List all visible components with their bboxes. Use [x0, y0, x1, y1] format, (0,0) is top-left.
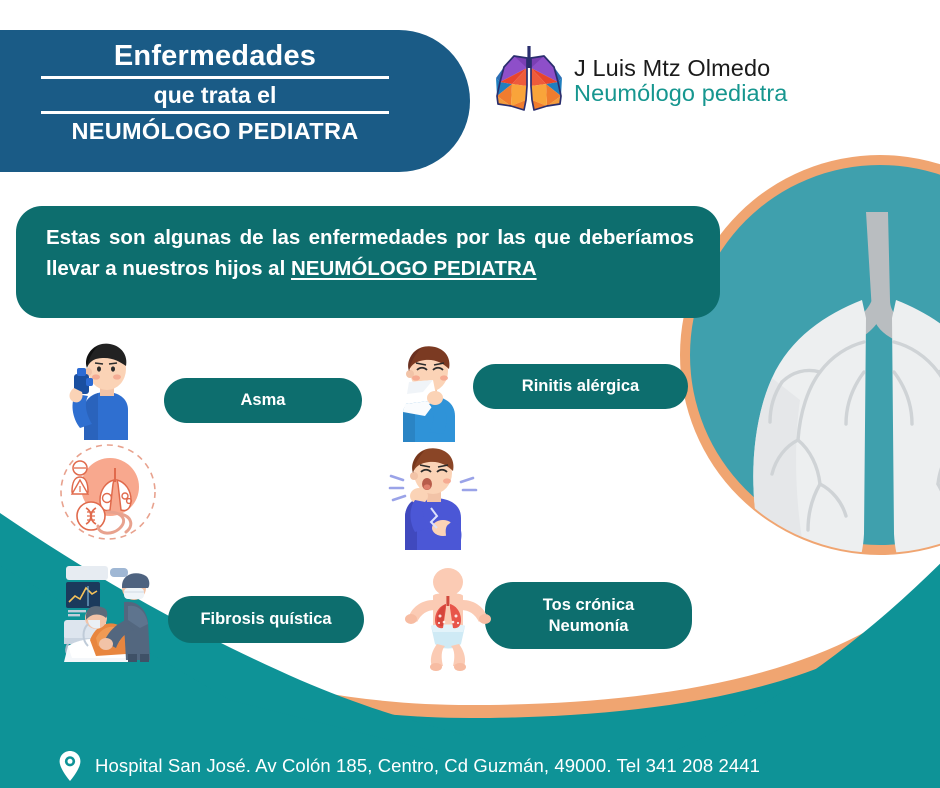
header-divider-2: [41, 111, 389, 114]
header-banner: Enfermedades que trata el NEUMÓLOGO PEDI…: [0, 30, 470, 172]
pill-rinitis-alergica[interactable]: Rinitis alérgica: [473, 364, 688, 409]
header-title-line1: Enfermedades: [114, 39, 316, 73]
list-item: Tos crónica Neumonía: [385, 446, 700, 556]
child-using-inhaler-icon: [58, 336, 154, 440]
footer-contact: Hospital San José. Av Colón 185, Centro,…: [58, 750, 760, 782]
header-divider-1: [41, 76, 389, 79]
child-sneezing-tissue-icon: [385, 338, 477, 442]
list-item: Asma: [58, 336, 368, 446]
list-item: Fibrosis quística: [58, 446, 368, 556]
disease-column-left: Asma: [58, 336, 368, 666]
infant-lungs-icon: [403, 566, 493, 670]
cystic-fibrosis-diagram-icon: [58, 442, 158, 542]
intro-callout-box: Estas son algunas de las enfermedades po…: [16, 206, 720, 318]
list-item: Secuelas posterior a infección respirato…: [58, 556, 368, 666]
location-pin-icon: [58, 750, 82, 782]
logo-specialty: Neumólogo pediatra: [574, 82, 787, 106]
intro-text-emphasis: NEUMÓLOGO PEDIATRA: [291, 257, 537, 280]
header-title-line2: que trata el: [154, 81, 277, 109]
list-item: Rinitis alérgica: [385, 336, 700, 446]
header-title-line3: NEUMÓLOGO PEDIATRA: [72, 117, 359, 145]
pill-label: Asma: [241, 390, 286, 411]
patient-in-hospital-bed-icon: [62, 562, 160, 662]
pill-label: Rinitis alérgica: [522, 376, 639, 397]
list-item: Displasia broncopulmonar: [385, 556, 700, 666]
poster-canvas: Enfermedades que trata el NEUMÓLOGO PEDI…: [0, 0, 940, 788]
lungs-geometric-icon: [492, 44, 566, 116]
brand-logo: J Luis Mtz Olmedo Neumólogo pediatra: [492, 44, 787, 116]
pill-asma[interactable]: Asma: [164, 378, 362, 423]
child-coughing-icon: [385, 442, 481, 550]
disease-column-right: Rinitis alérgica: [385, 336, 700, 666]
footer-address-text: Hospital San José. Av Colón 185, Centro,…: [95, 755, 760, 777]
logo-doctor-name: J Luis Mtz Olmedo: [574, 57, 787, 81]
